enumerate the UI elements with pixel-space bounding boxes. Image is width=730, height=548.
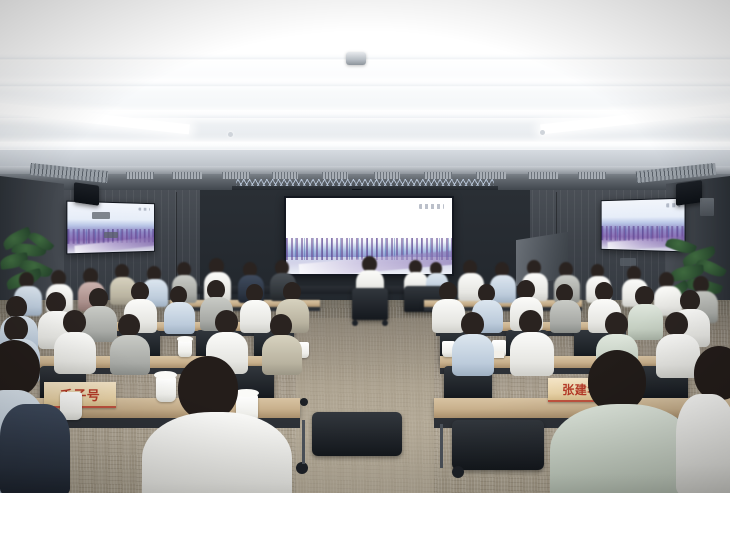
ceiling-sensor-icon <box>346 52 366 65</box>
air-vent <box>322 172 348 179</box>
ceiling-downlight <box>228 132 233 137</box>
wall-plate <box>104 232 118 238</box>
air-vent <box>578 172 606 179</box>
chair-caster <box>382 320 388 326</box>
cup <box>178 340 192 357</box>
wall-plate <box>620 258 636 266</box>
ceiling-downlight <box>540 130 545 135</box>
air-vent <box>272 172 298 179</box>
chair-foreground[interactable] <box>452 420 544 470</box>
air-vent <box>126 172 154 179</box>
chair-leg <box>440 424 443 468</box>
air-vent <box>172 172 202 179</box>
air-vent <box>222 172 250 179</box>
chair-caster <box>352 320 358 326</box>
chair-caster <box>300 398 308 406</box>
ceiling <box>0 0 730 186</box>
wall-sign <box>700 198 714 216</box>
ceiling-light-strip <box>0 142 730 150</box>
center-aisle <box>296 318 434 493</box>
chair-foreground[interactable] <box>312 412 402 456</box>
chair-leg <box>302 420 305 464</box>
conference-room-photo: 千子号 张建华 <box>0 0 730 493</box>
cup-lid <box>177 336 193 342</box>
chair[interactable] <box>352 288 388 320</box>
chair-caster <box>452 466 464 478</box>
air-vent <box>528 172 558 179</box>
letterbox-bottom <box>0 493 730 548</box>
ceiling-light-strip <box>0 80 730 86</box>
wall-plate <box>92 212 110 219</box>
screen-logo-icon <box>419 204 444 209</box>
wall-speaker-right <box>676 180 702 206</box>
air-vent <box>374 172 400 179</box>
screenshot-root: 千子号 张建华 <box>0 0 730 548</box>
cup <box>156 376 176 402</box>
cup-lid <box>154 371 177 379</box>
air-vent <box>424 172 452 179</box>
left-display-screen[interactable] <box>66 201 155 255</box>
air-vent <box>476 172 506 179</box>
screen-logo-icon <box>138 208 150 212</box>
wall-speaker-left <box>74 182 99 206</box>
